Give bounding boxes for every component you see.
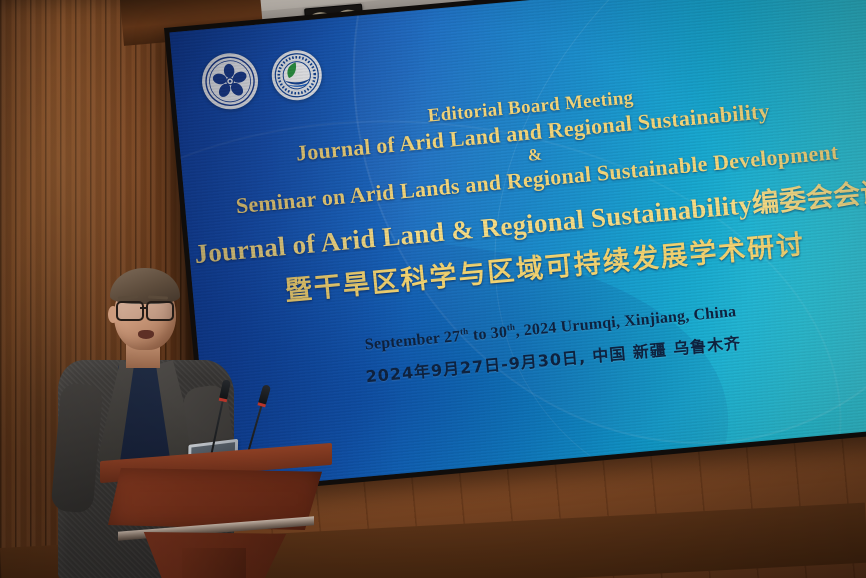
slide-logos [200,45,325,112]
lectern-column [182,548,246,578]
speaker-mouth [138,330,154,339]
chinese-academy-of-sciences-emblem [200,51,261,112]
eyeglass-lens-right [146,301,174,321]
date-mid: to 30 [468,324,508,344]
slide-text-block: Editorial Board Meeting Journal of Arid … [178,65,866,402]
projection-screen-assembly: Editorial Board Meeting Journal of Arid … [164,0,866,496]
date-prefix: September 27 [364,328,461,354]
lectern [100,452,332,578]
projection-screen: Editorial Board Meeting Journal of Arid … [169,0,866,491]
date-suffix: , 2024 Urumqi, Xinjiang, China [515,303,737,340]
eyeglasses-icon [116,301,176,317]
eyeglass-lens-left [116,301,144,321]
institute-emblem [270,48,324,102]
conference-photo-scene: Editorial Board Meeting Journal of Arid … [0,0,866,578]
